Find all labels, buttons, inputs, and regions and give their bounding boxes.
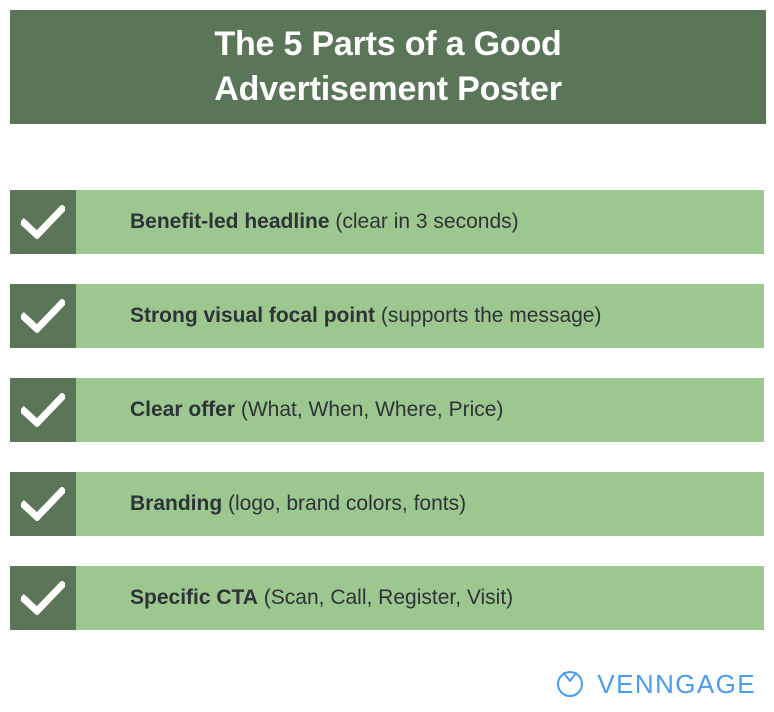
venngage-circle-icon <box>556 670 584 698</box>
list-item-lead-2: Strong visual focal point <box>130 304 375 327</box>
row-bar-5: Specific CTA (Scan, Call, Register, Visi… <box>76 566 764 630</box>
poster-canvas: The 5 Parts of a Good Advertisement Post… <box>0 0 774 712</box>
list-item-tail-4: (logo, brand colors, fonts) <box>222 492 466 515</box>
row-bar-3: Clear offer (What, When, Where, Price) <box>76 378 764 442</box>
list-item: Clear offer (What, When, Where, Price) <box>10 378 764 442</box>
list-item-tail-1: (clear in 3 seconds) <box>330 210 519 233</box>
checkbox-1[interactable] <box>10 190 76 254</box>
row-bar-4: Branding (logo, brand colors, fonts) <box>76 472 764 536</box>
list-item: Strong visual focal point (supports the … <box>10 284 764 348</box>
list-item: Specific CTA (Scan, Call, Register, Visi… <box>10 566 764 630</box>
list-item-text-1: Benefit-led headline (clear in 3 seconds… <box>130 209 519 234</box>
list-item-lead-1: Benefit-led headline <box>130 210 330 233</box>
list-item-text-2: Strong visual focal point (supports the … <box>130 303 601 328</box>
list-item-lead-5: Specific CTA <box>130 586 258 609</box>
venngage-logo[interactable]: VENNGAGE <box>556 670 756 698</box>
page-title: The 5 Parts of a Good Advertisement Post… <box>214 22 561 112</box>
check-icon <box>21 487 65 521</box>
list-item-lead-4: Branding <box>130 492 222 515</box>
venngage-wordmark: VENNGAGE <box>597 671 756 697</box>
checkbox-3[interactable] <box>10 378 76 442</box>
list-item-lead-3: Clear offer <box>130 398 235 421</box>
checkbox-4[interactable] <box>10 472 76 536</box>
list-item-text-4: Branding (logo, brand colors, fonts) <box>130 491 466 516</box>
check-icon <box>21 299 65 333</box>
list-item-text-5: Specific CTA (Scan, Call, Register, Visi… <box>130 585 513 610</box>
list-item: Branding (logo, brand colors, fonts) <box>10 472 764 536</box>
list-item-tail-3: (What, When, Where, Price) <box>235 398 503 421</box>
header-bar: The 5 Parts of a Good Advertisement Post… <box>10 10 766 124</box>
checkbox-2[interactable] <box>10 284 76 348</box>
checkbox-5[interactable] <box>10 566 76 630</box>
list-item-tail-2: (supports the message) <box>375 304 601 327</box>
checklist: Benefit-led headline (clear in 3 seconds… <box>10 190 764 630</box>
check-icon <box>21 205 65 239</box>
row-bar-1: Benefit-led headline (clear in 3 seconds… <box>76 190 764 254</box>
row-bar-2: Strong visual focal point (supports the … <box>76 284 764 348</box>
check-icon <box>21 581 65 615</box>
list-item-tail-5: (Scan, Call, Register, Visit) <box>258 586 513 609</box>
list-item-text-3: Clear offer (What, When, Where, Price) <box>130 397 503 422</box>
check-icon <box>21 393 65 427</box>
list-item: Benefit-led headline (clear in 3 seconds… <box>10 190 764 254</box>
